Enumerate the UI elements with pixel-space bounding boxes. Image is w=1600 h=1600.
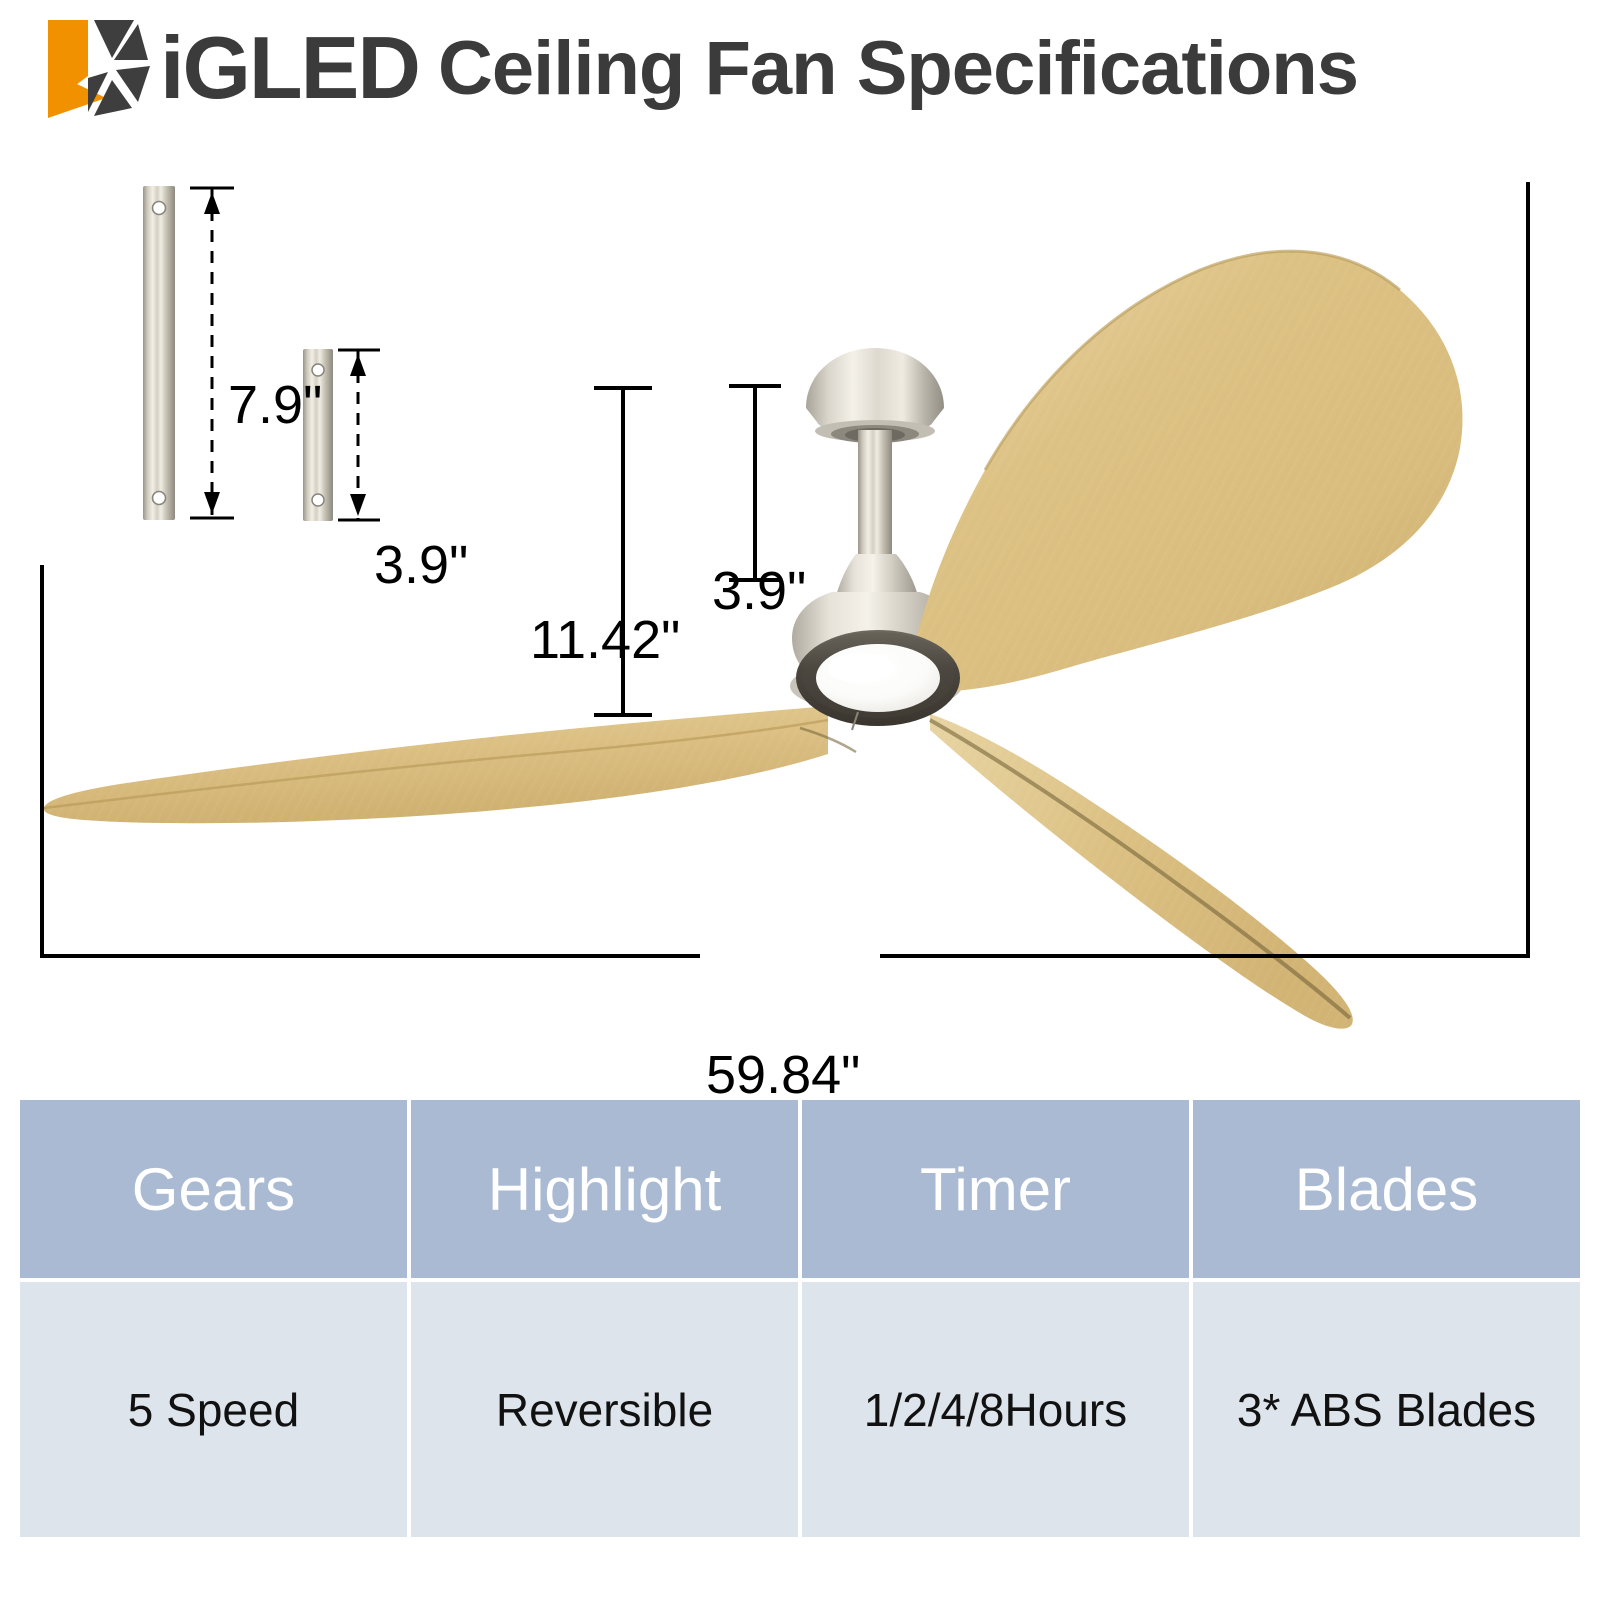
dimension-label-downrod-long: 7.9" (228, 378, 322, 432)
dimension-label-blade-span: 59.84" (706, 1048, 860, 1102)
table-cell-highlight: Reversible (411, 1282, 798, 1537)
brand-wordmark: iGLED (160, 16, 419, 120)
table-header-timer: Timer (802, 1100, 1189, 1278)
table-header-blades: Blades (1193, 1100, 1580, 1278)
table-header-gears: Gears (20, 1100, 407, 1278)
page-title: Ceiling Fan Specifications (438, 16, 1358, 122)
table-header-row: Gears Highlight Timer Blades (20, 1100, 1580, 1278)
dimension-label-motor-drop: 3.9" (712, 564, 806, 618)
table-header-highlight: Highlight (411, 1100, 798, 1278)
table-cell-timer: 1/2/4/8Hours (802, 1282, 1189, 1537)
table-row: 5 Speed Reversible 1/2/4/8Hours 3* ABS B… (20, 1282, 1580, 1537)
page-header: iGLED Ceiling Fan Specifications (0, 0, 1600, 130)
table-cell-blades: 3* ABS Blades (1193, 1282, 1580, 1537)
dimension-label-fan-height: 11.42" (530, 613, 680, 667)
table-cell-gears: 5 Speed (20, 1282, 407, 1537)
dimension-label-downrod-short: 3.9" (374, 538, 468, 592)
specification-table: Gears Highlight Timer Blades 5 Speed Rev… (20, 1100, 1580, 1537)
digled-shutter-logo-icon (42, 14, 160, 122)
fan-dimension-diagram: 7.9" 3.9" 11.42" 3.9" 59.84" (0, 130, 1600, 1080)
